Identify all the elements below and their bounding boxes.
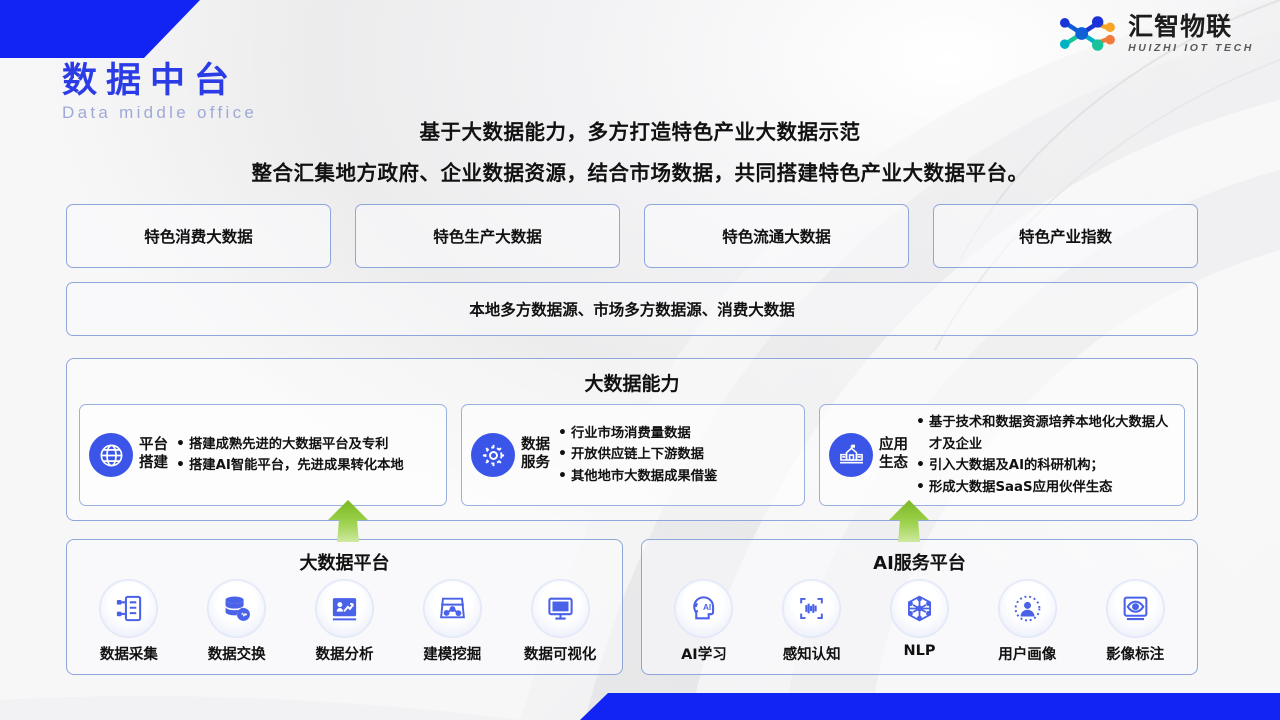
up-arrow-icon — [325, 500, 371, 542]
up-arrow-left — [325, 500, 371, 542]
platform-item-list: AI AI学习 感知认知 — [650, 579, 1189, 664]
capability-label-line1: 应用 — [879, 437, 908, 453]
platform-item[interactable]: NLP — [867, 579, 971, 659]
capability-box-ecosystem[interactable]: 应用 生态 基于技术和数据资源培养本地化大数据人才及企业 引入大数据及AI的科研… — [819, 404, 1185, 506]
slide-canvas: 汇智物联 HUIZHI IOT TECH 数据中台 Data middle of… — [0, 0, 1280, 720]
globe-icon — [89, 433, 133, 477]
capability-box-platform[interactable]: 平台 搭建 搭建成熟先进的大数据平台及专利 搭建AI智能平台，先进成果转化本地 — [79, 404, 447, 506]
nlp-network-icon — [890, 579, 949, 638]
platform-item-label: 感知认知 — [783, 643, 841, 664]
molecule-network-icon — [1055, 12, 1119, 55]
logo-text-group: 汇智物联 HUIZHI IOT TECH — [1128, 14, 1254, 54]
platform-item[interactable]: 数据分析 — [292, 579, 396, 664]
capability-box-dataservice[interactable]: 数据 服务 行业市场消费量数据 开放供应链上下游数据 其他地市大数据成果借鉴 — [461, 404, 805, 506]
platform-ai: AI服务平台 AI AI学习 — [641, 539, 1198, 675]
svg-text:AI: AI — [703, 603, 711, 612]
capability-bullet-list: 基于技术和数据资源培养本地化大数据人才及企业 引入大数据及AI的科研机构； 形成… — [914, 412, 1175, 498]
platform-item-label: 数据可视化 — [524, 643, 597, 664]
category-card[interactable]: 特色产业指数 — [933, 204, 1198, 268]
up-arrow-icon — [886, 500, 932, 542]
platform-item[interactable]: 数据采集 — [77, 579, 181, 664]
capability-bullet: 开放供应链上下游数据 — [556, 444, 717, 466]
bottom-accent-fill — [580, 693, 1280, 720]
capability-bullet: 搭建AI智能平台，先进成果转化本地 — [174, 455, 404, 477]
platform-item-label: AI学习 — [681, 643, 727, 664]
category-card-row: 特色消费大数据 特色生产大数据 特色流通大数据 特色产业指数 — [66, 204, 1198, 268]
bottom-accent-bar — [0, 693, 1280, 720]
institution-icon — [829, 433, 873, 477]
platform-item[interactable]: 建模挖掘 — [400, 579, 504, 664]
monitor-visualization-icon — [531, 579, 590, 638]
capability-bullet: 基于技术和数据资源培养本地化大数据人才及企业 — [914, 412, 1175, 455]
capability-label: 平台 搭建 — [139, 437, 168, 472]
capability-bullet-list: 行业市场消费量数据 开放供应链上下游数据 其他地市大数据成果借鉴 — [556, 423, 717, 488]
platform-item[interactable]: 数据可视化 — [508, 579, 612, 664]
category-card[interactable]: 特色流通大数据 — [644, 204, 909, 268]
up-arrow-right — [886, 500, 932, 542]
platform-item[interactable]: AI AI学习 — [652, 579, 756, 664]
capability-label-line2: 服务 — [521, 455, 550, 471]
platform-item-label: NLP — [903, 643, 935, 659]
capability-label: 应用 生态 — [879, 437, 908, 472]
capability-label-line1: 数据 — [521, 437, 550, 453]
perception-scan-icon — [782, 579, 841, 638]
brand-logo: 汇智物联 HUIZHI IOT TECH — [1055, 12, 1254, 55]
category-card[interactable]: 特色消费大数据 — [66, 204, 331, 268]
data-sources-bar[interactable]: 本地多方数据源、市场多方数据源、消费大数据 — [66, 282, 1198, 336]
capability-bullet: 引入大数据及AI的科研机构； — [914, 455, 1175, 477]
model-mining-icon — [423, 579, 482, 638]
capability-panel-title: 大数据能力 — [79, 369, 1185, 396]
capability-bullet: 搭建成熟先进的大数据平台及专利 — [174, 434, 404, 456]
gear-icon — [471, 433, 515, 477]
capability-bullet: 形成大数据SaaS应用伙伴生态 — [914, 477, 1175, 499]
capability-label: 数据 服务 — [521, 437, 550, 472]
page-title-cn: 数据中台 — [62, 62, 257, 101]
platform-bigdata: 大数据平台 数据采集 — [66, 539, 623, 675]
platform-item-label: 数据交换 — [208, 643, 266, 664]
platform-title: 大数据平台 — [75, 549, 614, 575]
platform-item-label: 数据分析 — [315, 643, 373, 664]
platform-item-label: 数据采集 — [100, 643, 158, 664]
capability-bullet: 行业市场消费量数据 — [556, 423, 717, 445]
image-annotation-eye-icon — [1106, 579, 1165, 638]
platform-item[interactable]: 影像标注 — [1083, 579, 1187, 664]
platform-item-label: 建模挖掘 — [423, 643, 481, 664]
capability-box-row: 平台 搭建 搭建成熟先进的大数据平台及专利 搭建AI智能平台，先进成果转化本地 — [79, 404, 1185, 506]
category-card[interactable]: 特色生产大数据 — [355, 204, 620, 268]
platform-item-list: 数据采集 数据 — [75, 579, 614, 664]
ai-head-icon: AI — [674, 579, 733, 638]
user-profile-icon — [998, 579, 1057, 638]
platform-title: AI服务平台 — [650, 549, 1189, 575]
corner-accent-shape — [0, 0, 200, 58]
capability-label-line1: 平台 — [139, 437, 168, 453]
data-collection-icon — [99, 579, 158, 638]
platform-item[interactable]: 感知认知 — [760, 579, 864, 664]
page-title: 数据中台 Data middle office — [62, 62, 257, 123]
capability-panel: 大数据能力 平台 搭建 搭建成熟先进的大数 — [66, 358, 1198, 521]
logo-name-cn: 汇智物联 — [1128, 14, 1232, 39]
database-exchange-icon — [207, 579, 266, 638]
content-stack: 特色消费大数据 特色生产大数据 特色流通大数据 特色产业指数 本地多方数据源、市… — [66, 204, 1198, 675]
capability-label-line2: 搭建 — [139, 455, 168, 471]
headline-group: 基于大数据能力，多方打造特色产业大数据示范 整合汇集地方政府、企业数据资源，结合… — [0, 115, 1280, 186]
platform-item[interactable]: 数据交换 — [185, 579, 289, 664]
capability-bullet: 其他地市大数据成果借鉴 — [556, 466, 717, 488]
capability-label-line2: 生态 — [879, 455, 908, 471]
platform-item-label: 用户画像 — [998, 643, 1056, 664]
platform-item[interactable]: 用户画像 — [975, 579, 1079, 664]
headline-secondary: 整合汇集地方政府、企业数据资源，结合市场数据，共同搭建特色产业大数据平台。 — [252, 156, 1029, 186]
analytics-chart-icon — [315, 579, 374, 638]
platform-item-label: 影像标注 — [1106, 643, 1164, 664]
logo-name-en: HUIZHI IOT TECH — [1128, 43, 1254, 54]
platform-row: 大数据平台 数据采集 — [66, 539, 1198, 675]
headline-primary: 基于大数据能力，多方打造特色产业大数据示范 — [420, 115, 861, 145]
capability-bullet-list: 搭建成熟先进的大数据平台及专利 搭建AI智能平台，先进成果转化本地 — [174, 434, 404, 477]
